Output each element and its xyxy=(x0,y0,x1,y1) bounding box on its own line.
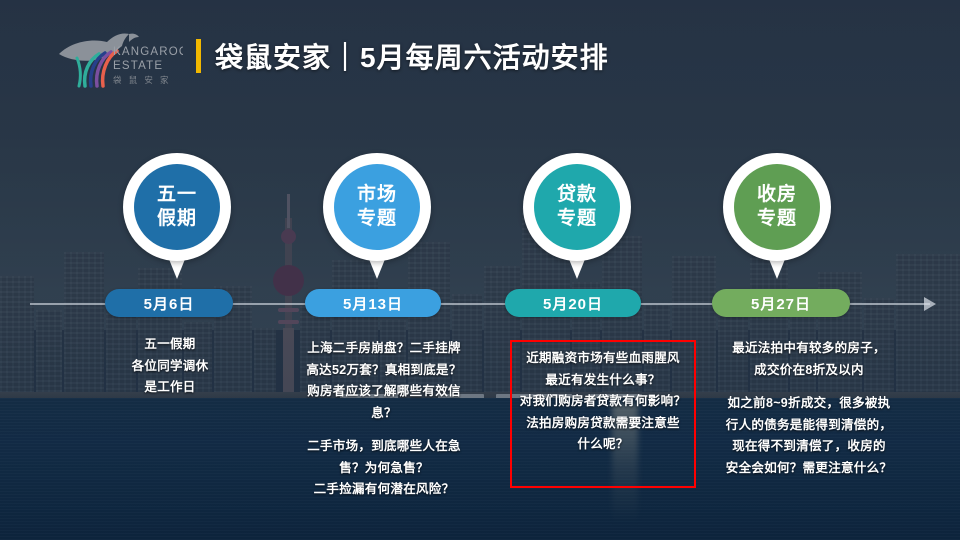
milestone-pin-1[interactable]: 五一 假期 xyxy=(123,153,231,279)
slide-header: KANGAROO ESTATE 袋 鼠 安 家 袋鼠安家｜5月每周六活动安排 xyxy=(0,0,960,96)
logo-text-en-2: ESTATE xyxy=(113,60,163,72)
pin-label-line1: 五一 xyxy=(157,183,197,207)
pin-label-line1: 贷款 xyxy=(557,183,597,207)
page-title: 袋鼠安家｜5月每周六活动安排 xyxy=(215,36,609,76)
logo-text-cn: 袋 鼠 安 家 xyxy=(113,75,171,85)
pin-label-line2: 专题 xyxy=(757,207,797,231)
pin-body: 贷款 专题 xyxy=(534,164,620,250)
pin-body: 收房 专题 xyxy=(734,164,820,250)
pin-label-line2: 假期 xyxy=(157,207,197,231)
pin-label-line1: 收房 xyxy=(757,183,797,207)
pin-body: 五一 假期 xyxy=(134,164,220,250)
paragraph: 上海二手房崩盘？二手挂牌 高达52万套？真相到底是？ 购房者应该了解哪些有效信 … xyxy=(285,338,483,424)
date-badge-1[interactable]: 5月6日 xyxy=(105,289,233,317)
title-accent-bar xyxy=(196,39,201,73)
kangaroo-estate-logo: KANGAROO ESTATE 袋 鼠 安 家 xyxy=(55,28,183,90)
milestone-content-4: 最近法拍中有较多的房子， 成交价在8折及以内 如之前8~9折成交，很多被执 行人… xyxy=(706,338,912,479)
milestone-content-2: 上海二手房崩盘？二手挂牌 高达52万套？真相到底是？ 购房者应该了解哪些有效信 … xyxy=(285,338,483,501)
date-badge-3[interactable]: 5月20日 xyxy=(505,289,641,317)
milestone-content-1: 五一假期 各位同学调休 是工作日 xyxy=(98,334,242,399)
paragraph: 二手市场，到底哪些人在急 售？为何急售？ 二手捡漏有何潜在风险？ xyxy=(285,436,483,501)
date-badge-4[interactable]: 5月27日 xyxy=(712,289,850,317)
pin-body: 市场 专题 xyxy=(334,164,420,250)
paragraph: 最近法拍中有较多的房子， 成交价在8折及以内 xyxy=(706,338,912,381)
timeline-arrow-icon xyxy=(924,297,936,311)
paragraph: 如之前8~9折成交，很多被执 行人的债务是能得到清偿的， 现在得不到清偿了，收房… xyxy=(706,393,912,479)
logo-text-en-1: KANGAROO xyxy=(113,46,183,58)
date-badge-2[interactable]: 5月13日 xyxy=(305,289,441,317)
paragraph: 五一假期 各位同学调休 是工作日 xyxy=(98,334,242,399)
highlight-box xyxy=(510,340,696,488)
pin-label-line2: 专题 xyxy=(557,207,597,231)
milestone-pin-3[interactable]: 贷款 专题 xyxy=(523,153,631,279)
slide-root: KANGAROO ESTATE 袋 鼠 安 家 袋鼠安家｜5月每周六活动安排 五… xyxy=(0,0,960,540)
pin-label-line2: 专题 xyxy=(357,207,397,231)
milestone-pin-2[interactable]: 市场 专题 xyxy=(323,153,431,279)
title-block: 袋鼠安家｜5月每周六活动安排 xyxy=(196,36,609,76)
milestone-pin-4[interactable]: 收房 专题 xyxy=(723,153,831,279)
pin-label-line1: 市场 xyxy=(357,183,397,207)
